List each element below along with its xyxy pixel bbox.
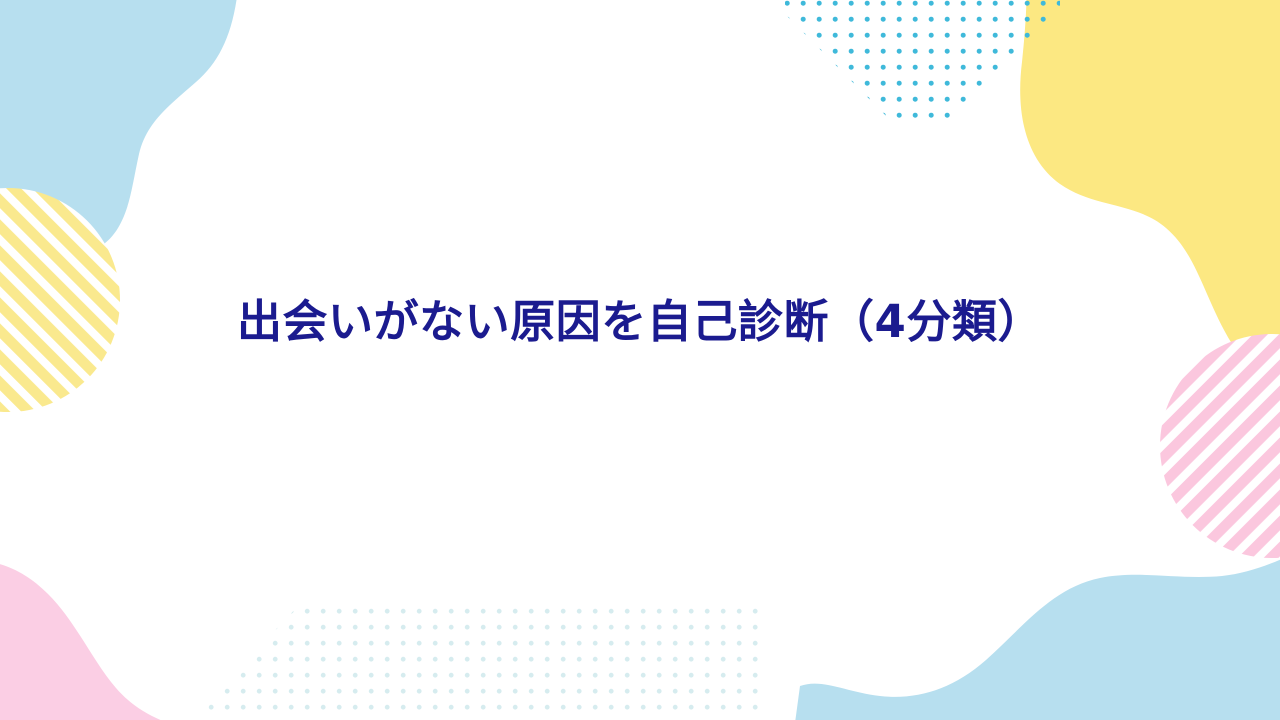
page-title: 出会いがない原因を自己診断（4分類） bbox=[237, 294, 1043, 350]
title-block: 出会いがない原因を自己診断（4分類） bbox=[0, 0, 1280, 720]
slide-canvas: 出会いがない原因を自己診断（4分類） bbox=[0, 0, 1280, 720]
